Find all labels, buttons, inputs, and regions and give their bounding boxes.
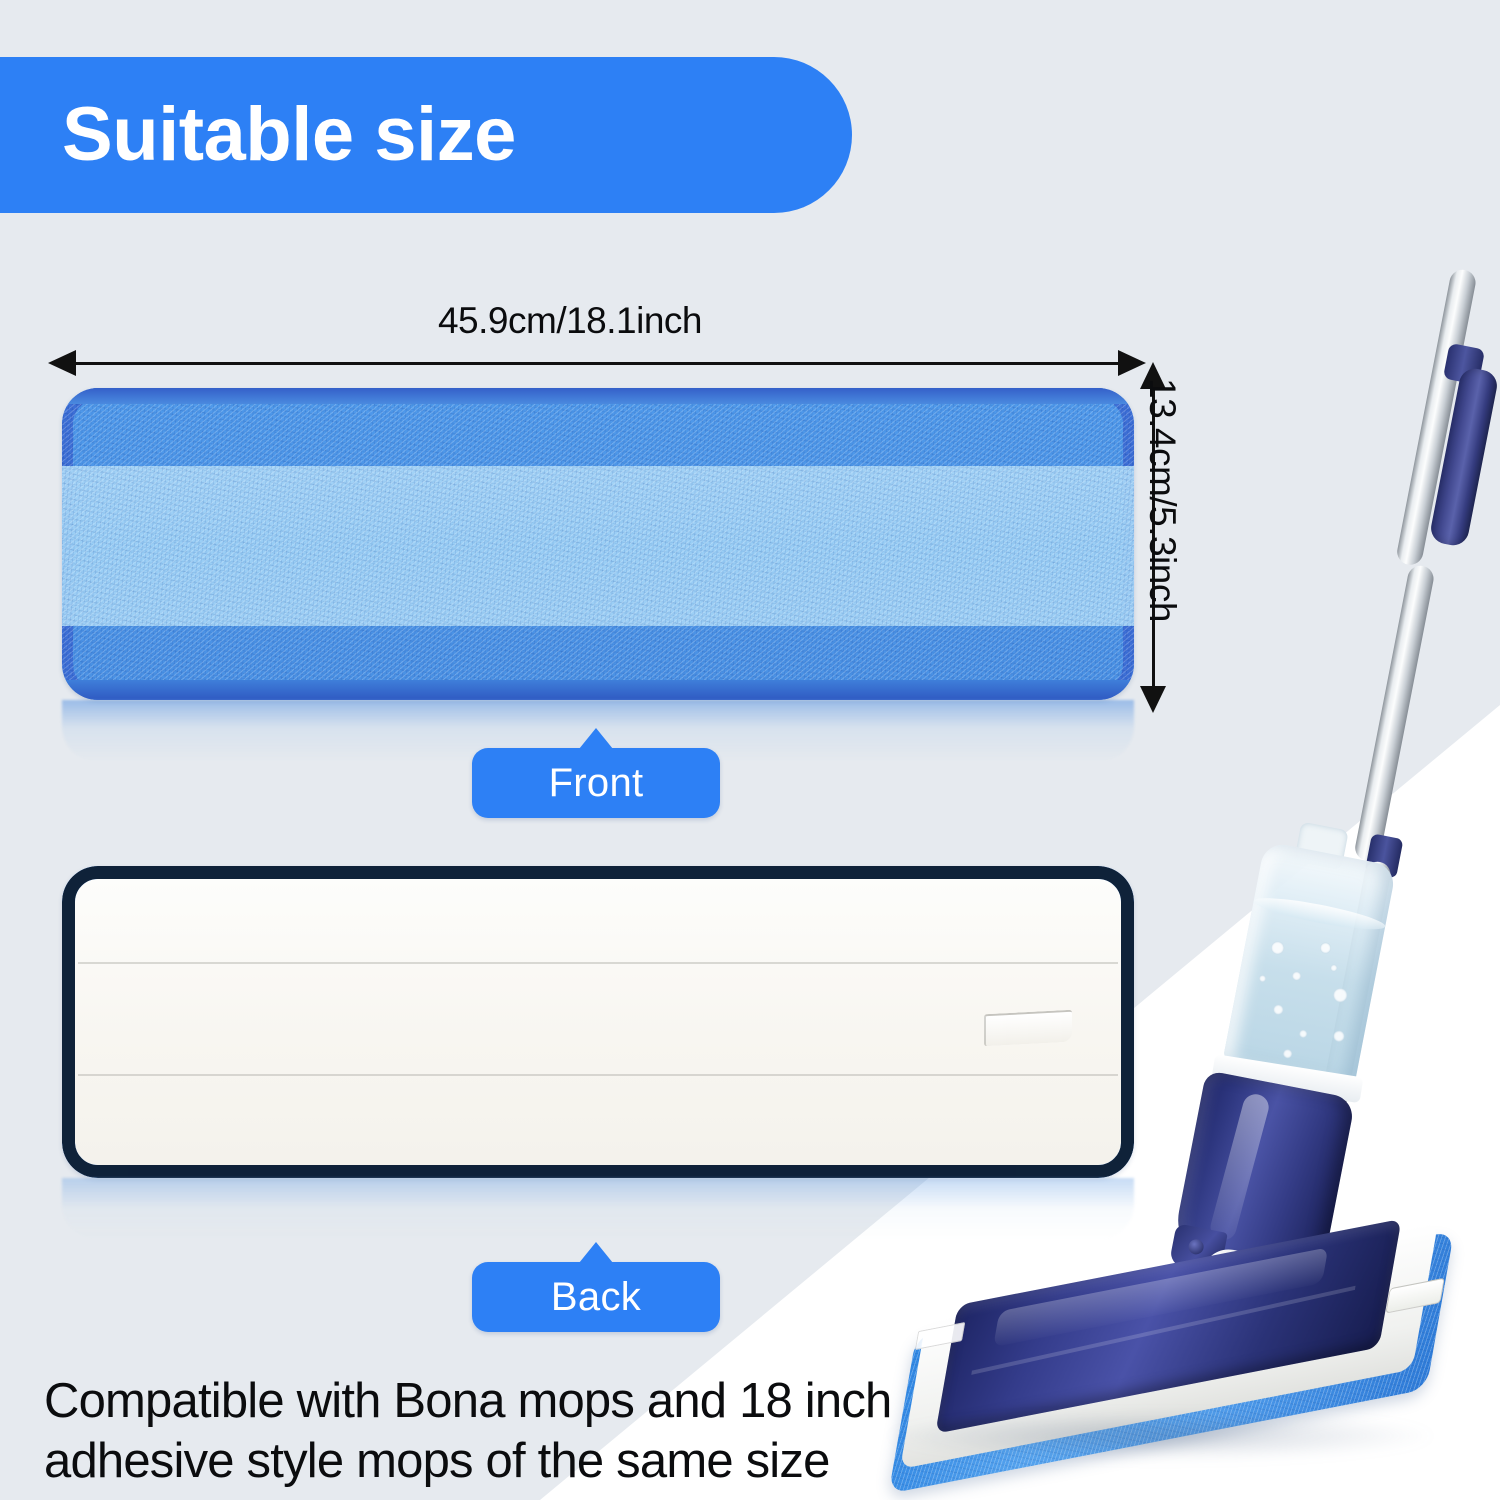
bubble-icon (1299, 1029, 1308, 1038)
caption-line-1: Compatible with Bona mops and 18 inch (44, 1372, 1304, 1432)
badge-front-tail-icon (579, 728, 613, 749)
bubble-icon (1282, 1048, 1293, 1059)
bottle-waterline (1252, 892, 1387, 935)
arrow-left-icon (48, 350, 76, 376)
bubble-icon (1332, 1030, 1345, 1043)
caption-line-2: adhesive style mops of the same size (44, 1432, 1304, 1492)
mop-handle-middle (1353, 564, 1436, 863)
page-title: Suitable size (62, 97, 516, 173)
bubble-icon (1258, 974, 1266, 982)
bubble-icon (1319, 942, 1332, 955)
badge-front: Front (472, 748, 720, 818)
bubble-icon (1332, 987, 1348, 1003)
header-banner: Suitable size (0, 57, 852, 213)
badge-back: Back (472, 1262, 720, 1332)
bubble-icon (1291, 971, 1302, 982)
badge-front-label: Front (549, 761, 644, 806)
compatibility-caption: Compatible with Bona mops and 18 inch ad… (44, 1372, 1304, 1492)
bubble-icon (1270, 940, 1285, 955)
badge-back-tail-icon (579, 1242, 613, 1263)
infographic-canvas: Suitable size 45.9cm/18.1inch 13.4cm/5.3… (0, 0, 1500, 1500)
bubble-icon (1273, 1004, 1285, 1016)
badge-back-label: Back (551, 1275, 641, 1320)
spray-mop-product-image (880, 250, 1500, 1500)
bottle-water-reservoir (1223, 841, 1397, 1086)
bubble-icon (1330, 964, 1338, 972)
